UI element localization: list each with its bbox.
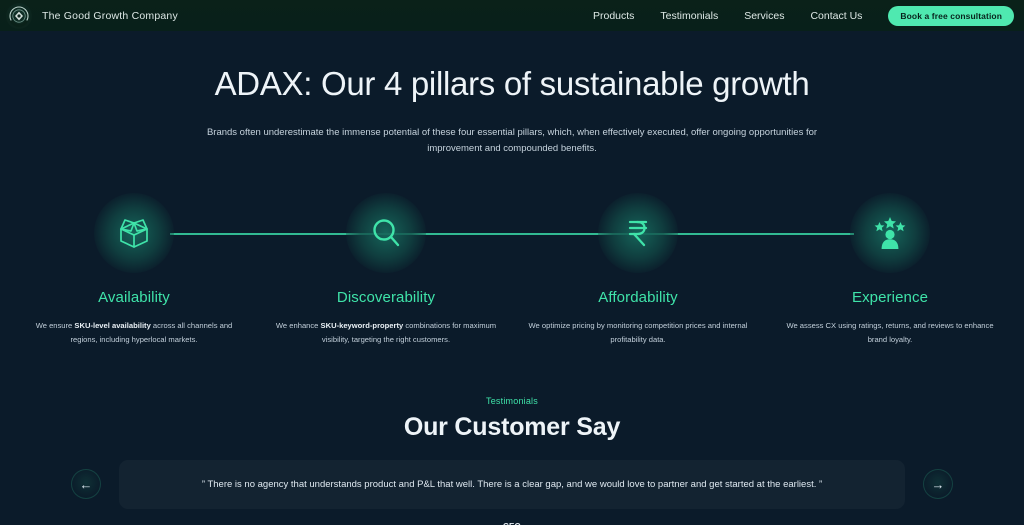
pillar-availability[interactable]: Availability We ensure SKU-level availab… [8,193,260,346]
nav-item-services[interactable]: Services [744,10,784,22]
arrow-left-icon[interactable]: ← [71,469,101,499]
nav-item-contact-us[interactable]: Contact Us [810,10,862,22]
pillar-description: We enhance SKU-keyword-property combinat… [274,319,499,346]
pillar-title: Availability [98,289,170,306]
pillar-description: We assess CX using ratings, returns, and… [778,319,1003,346]
pillar-title: Experience [852,289,928,306]
pillar-description: We optimize pricing by monitoring compet… [526,319,751,346]
brand-name: The Good Growth Company [42,10,178,22]
nav-item-products[interactable]: Products [593,10,634,22]
magnifying-glass-icon [346,193,426,273]
testimonials-section: Testimonials Our Customer Say ← ” There … [0,396,1024,525]
hero-subtitle: Brands often underestimate the immense p… [192,125,832,157]
testimonial-quote: ” There is no agency that understands pr… [119,460,905,509]
pillar-affordability[interactable]: Affordability We optimize pricing by mon… [512,193,764,346]
testimonials-eyebrow: Testimonials [0,396,1024,406]
pillar-experience[interactable]: Experience We assess CX using ratings, r… [764,193,1016,346]
pillar-title: Discoverability [337,289,435,306]
nav-item-testimonials[interactable]: Testimonials [660,10,718,22]
pillar-title: Affordability [598,289,677,306]
hero-section: ADAX: Our 4 pillars of sustainable growt… [0,31,1024,157]
arrow-right-icon[interactable]: → [923,469,953,499]
testimonial-carousel: ← ” There is no agency that understands … [0,460,1024,509]
pillar-discoverability[interactable]: Discoverability We enhance SKU-keyword-p… [260,193,512,346]
pillars-section: Availability We ensure SKU-level availab… [0,193,1024,346]
person-stars-icon [850,193,930,273]
book-consultation-button[interactable]: Book a free consultation [888,6,1014,26]
pillar-description: We ensure SKU-level availability across … [22,319,247,346]
circular-emblem-logo-icon [6,3,32,29]
brand[interactable]: The Good Growth Company [6,3,178,29]
testimonials-heading: Our Customer Say [0,413,1024,442]
open-box-icon [94,193,174,273]
rupee-icon [598,193,678,273]
site-header: The Good Growth Company Products Testimo… [0,0,1024,31]
main-nav: Products Testimonials Services Contact U… [593,6,1014,26]
page-title: ADAX: Our 4 pillars of sustainable growt… [0,65,1024,103]
